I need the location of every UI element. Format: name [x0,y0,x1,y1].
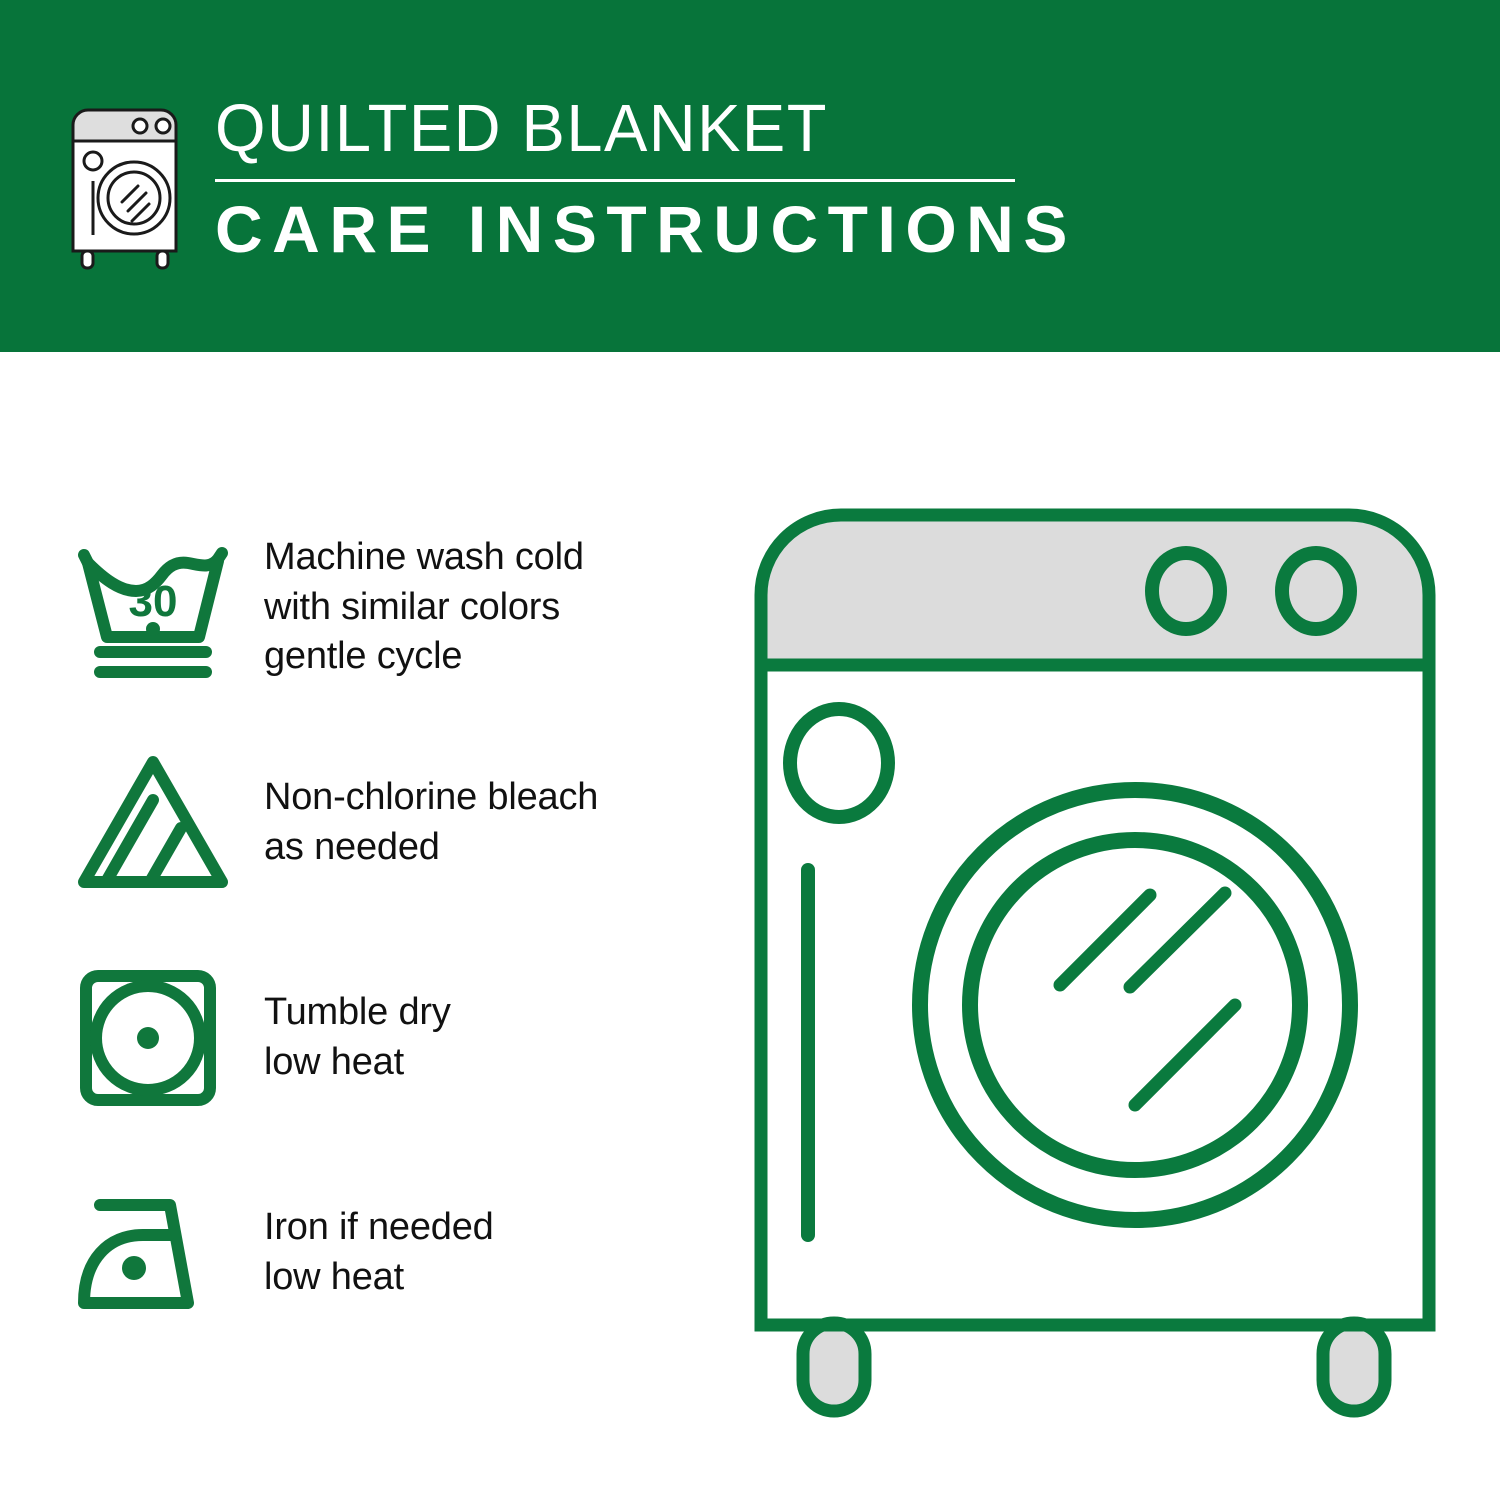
wash-temperature-label: 30 [129,577,178,626]
care-text-line: Machine wash cold [264,533,584,582]
leg-right [1323,1323,1385,1411]
care-text-line: with similar colors [264,583,584,632]
tumble-dry-low-icon [70,958,240,1118]
care-text-line: Non-chlorine bleach [264,773,598,822]
knob-left[interactable] [1152,553,1220,629]
care-text-line: gentle cycle [264,632,584,681]
care-item-label: Iron if needed low heat [264,1203,494,1302]
care-item-tumble-dry: Tumble dry low heat [70,930,710,1145]
leg-left [803,1323,865,1411]
care-text-line: low heat [264,1038,451,1087]
care-item-label: Non-chlorine bleach as needed [264,773,598,872]
header-title-block: QUILTED BLANKET CARE INSTRUCTIONS [215,95,1077,262]
care-item-iron: Iron if needed low heat [70,1145,710,1360]
page-title: QUILTED BLANKET [215,95,1051,162]
care-text-line: as needed [264,823,598,872]
header-banner: QUILTED BLANKET CARE INSTRUCTIONS [0,0,1500,352]
wash-tub-30-icon: 30 [70,528,240,688]
care-item-label: Tumble dry low heat [264,988,451,1087]
page-subtitle: CARE INSTRUCTIONS [215,196,1077,262]
header-content: QUILTED BLANKET CARE INSTRUCTIONS [62,95,1077,273]
care-item-machine-wash: 30 Machine wash cold with similar colors… [70,500,710,715]
non-chlorine-bleach-triangle-icon [70,743,240,903]
knob-right[interactable] [1282,553,1350,629]
care-text-line: low heat [264,1253,494,1302]
title-divider [215,179,1015,182]
care-item-bleach: Non-chlorine bleach as needed [70,715,710,930]
care-instruction-list: 30 Machine wash cold with similar colors… [70,500,710,1360]
machine-body [761,665,1429,1325]
care-item-label: Machine wash cold with similar colors ge… [264,533,584,681]
iron-low-heat-icon [70,1173,240,1333]
care-text-line: Tumble dry [264,988,451,1037]
care-text-line: Iron if needed [264,1203,494,1252]
washing-machine-icon [62,103,197,273]
washing-machine-illustration [745,495,1445,1425]
